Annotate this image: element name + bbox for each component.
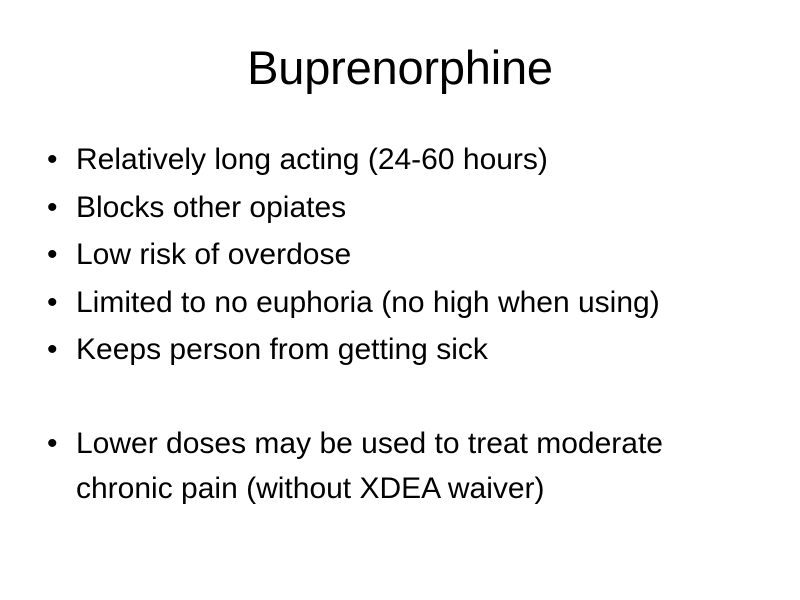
list-item-label: Low risk of overdose bbox=[76, 231, 756, 279]
list-item-label: Lower doses may be used to treat moderat… bbox=[76, 421, 756, 511]
bullet-list: • Relatively long acting (24-60 hours) •… bbox=[44, 136, 756, 511]
bullet-point-icon: • bbox=[47, 421, 67, 466]
list-item: • Keeps person from getting sick bbox=[44, 326, 756, 374]
list-item-label: Blocks other opiates bbox=[76, 184, 756, 232]
bullet-point-icon: • bbox=[47, 231, 67, 279]
list-item-label: Keeps person from getting sick bbox=[76, 326, 756, 374]
list-item: • Limited to no euphoria (no high when u… bbox=[44, 279, 756, 327]
list-item: • Lower doses may be used to treat moder… bbox=[44, 421, 756, 511]
list-item-label: Limited to no euphoria (no high when usi… bbox=[76, 279, 756, 327]
presentation-slide: Buprenorphine • Relatively long acting (… bbox=[0, 0, 800, 600]
list-item-label: Relatively long acting (24-60 hours) bbox=[76, 136, 756, 184]
list-item: • Relatively long acting (24-60 hours) bbox=[44, 136, 756, 184]
bullet-point-icon: • bbox=[47, 279, 67, 327]
bullet-point-icon: • bbox=[47, 184, 67, 232]
page-title: Buprenorphine bbox=[0, 42, 800, 94]
bullet-point-icon: • bbox=[47, 136, 67, 184]
list-item: • Low risk of overdose bbox=[44, 231, 756, 279]
list-item: • Blocks other opiates bbox=[44, 184, 756, 232]
blank-line-spacer bbox=[44, 374, 756, 422]
bullet-point-icon: • bbox=[47, 326, 67, 374]
